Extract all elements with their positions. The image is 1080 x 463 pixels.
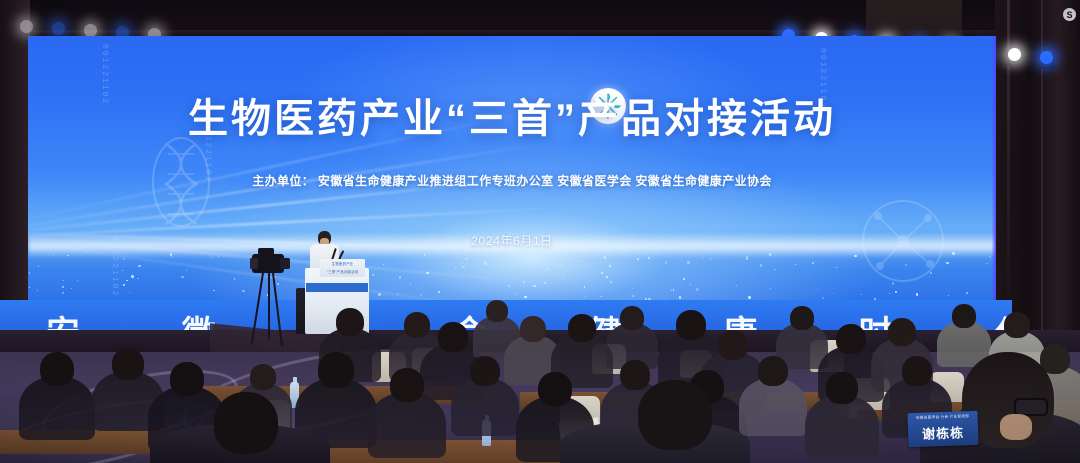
audience-member-head <box>336 308 364 336</box>
screen-particle <box>710 258 712 260</box>
audience-member-head <box>112 348 144 380</box>
audience-member-head <box>250 364 276 390</box>
screen-particle <box>626 251 627 252</box>
screen-particle <box>410 284 412 286</box>
audience-member-head <box>438 322 468 352</box>
stage-light <box>1008 48 1021 61</box>
screen-particle <box>123 284 124 285</box>
screen-particle <box>812 262 814 264</box>
podium-title-plate: 生物医药产业 “三首”产品对接活动 <box>320 259 365 277</box>
podium-title-line2: “三首”产品对接活动 <box>320 267 365 275</box>
foreground-person-head <box>638 380 712 450</box>
screen-particle <box>769 253 772 256</box>
screen-particle <box>63 280 64 281</box>
stage-light <box>52 22 65 35</box>
screen-particle <box>833 293 835 295</box>
audience-member-head <box>538 372 572 406</box>
screen-particle <box>123 258 125 260</box>
led-screen-main: 001221102 001221102 001221102 001221102 <box>28 36 996 336</box>
placard-name: 谢栋栋 <box>908 422 979 443</box>
screen-particle <box>515 293 517 295</box>
screen-particle <box>484 262 487 265</box>
screen-particle <box>508 285 510 287</box>
screen-particle <box>426 272 428 274</box>
screen-particle <box>547 268 548 269</box>
screen-particle <box>774 269 776 271</box>
audience-member-head <box>486 300 508 322</box>
screen-particle <box>576 260 578 262</box>
conference-hall-photo: 001221102 001221102 001221102 001221102 <box>0 0 1080 463</box>
audience-member-body <box>805 395 879 457</box>
screen-particle <box>748 296 751 299</box>
screen-particle <box>389 251 390 252</box>
audience-member-head <box>620 360 650 390</box>
screen-particle <box>606 276 608 278</box>
audience-member-head <box>390 368 424 402</box>
screen-particle <box>277 283 279 285</box>
screen-particle <box>564 276 565 277</box>
screen-particle <box>455 267 456 268</box>
screen-particle <box>584 296 585 297</box>
camera-lens <box>280 258 290 269</box>
screen-particle <box>53 255 54 256</box>
screen-particle <box>420 294 422 296</box>
screen-particle <box>67 255 69 257</box>
screen-particle <box>77 280 78 281</box>
screen-particle <box>234 278 236 280</box>
screen-particle <box>703 257 704 258</box>
screen-particle <box>671 290 672 291</box>
screen-particle <box>417 272 418 273</box>
screen-particle <box>952 252 954 254</box>
tripod-leg <box>268 273 270 339</box>
audience-member-head <box>952 304 976 328</box>
event-title: 生物医药产业“三首”产品对接活动 <box>28 96 996 143</box>
audience-member-head <box>718 330 748 360</box>
screen-particle <box>669 282 671 284</box>
screen-particle <box>665 261 668 264</box>
screen-particle <box>709 272 710 273</box>
screen-particle <box>533 285 535 287</box>
screen-particle <box>696 289 698 291</box>
screen-particle <box>186 270 187 271</box>
led-screen-edge-glow <box>992 36 996 336</box>
screen-particle <box>462 262 464 264</box>
screen-particle <box>524 296 526 298</box>
audience-member-head <box>568 314 596 342</box>
screen-particle <box>397 293 398 294</box>
camera-viewfinder <box>250 258 258 269</box>
screen-particle <box>126 280 127 281</box>
screen-particle <box>986 263 987 264</box>
audience-member-head <box>836 324 866 354</box>
screen-particle <box>770 288 772 290</box>
screen-particle <box>584 286 585 287</box>
name-placard: 安徽省医学会 分会 产业促进部 谢栋栋 <box>907 411 978 447</box>
screen-particle <box>129 292 130 293</box>
screen-particle <box>212 257 213 258</box>
screen-particle <box>690 284 691 285</box>
screen-particle <box>29 287 30 288</box>
podium-accent-band <box>306 283 368 292</box>
stage-light <box>20 20 33 33</box>
audience-member-body <box>368 392 446 458</box>
screen-particle <box>673 289 674 290</box>
screen-particle <box>37 290 38 291</box>
screen-particle <box>71 288 72 289</box>
corner-watermark: S <box>1063 8 1076 21</box>
audience-member-head <box>404 312 430 338</box>
screen-particle <box>29 272 31 274</box>
screen-particle <box>854 255 857 258</box>
audience-member-head <box>888 318 916 346</box>
screen-particle <box>601 272 603 274</box>
screen-particle <box>736 285 737 286</box>
screen-particle <box>637 258 639 260</box>
screen-particle <box>128 260 129 261</box>
screen-particle <box>378 293 380 295</box>
screen-particle <box>122 270 123 271</box>
screen-particle <box>218 256 219 257</box>
screen-particle <box>817 289 818 290</box>
screen-particle <box>600 296 602 298</box>
stage-light <box>1040 51 1053 64</box>
screen-particle <box>632 295 634 297</box>
screen-particle <box>87 251 88 252</box>
hall-wall-left <box>0 0 30 340</box>
foreground-person-head <box>214 392 278 454</box>
screen-particle <box>203 272 204 273</box>
audience-member-head <box>470 356 500 386</box>
screen-particle <box>559 264 561 266</box>
screen-particle <box>693 252 694 253</box>
screen-particle <box>213 290 214 291</box>
screen-particle <box>822 297 824 299</box>
event-organizers: 主办单位： 安徽省生命健康产业推进组工作专班办公室 安徽省医学会 安徽省生命健康… <box>28 172 996 189</box>
screen-particle <box>795 264 797 266</box>
audience-member-head <box>902 356 932 386</box>
screen-particle <box>760 264 763 267</box>
screen-particle <box>138 265 140 267</box>
screen-particle <box>462 266 464 268</box>
screen-particle <box>544 282 546 284</box>
audience-member-head <box>790 306 814 330</box>
screen-particle <box>989 256 991 258</box>
screen-particle <box>836 267 837 268</box>
screen-particle <box>687 261 689 263</box>
screen-particle <box>610 290 611 291</box>
audience-member-head <box>676 310 706 340</box>
audience-member-head <box>170 362 204 396</box>
screen-particle <box>172 256 173 257</box>
screen-particle <box>966 292 968 294</box>
audience-member-head <box>758 356 788 386</box>
audience-member-body <box>19 376 95 440</box>
screen-particle <box>648 257 650 259</box>
placard-organization: 安徽省医学会 分会 产业促进部 <box>908 414 978 421</box>
screen-particle <box>372 274 374 276</box>
audience-member-body <box>451 378 519 436</box>
audience-member-head <box>40 352 74 386</box>
screen-particle <box>679 296 682 299</box>
screen-particle <box>610 281 612 283</box>
screen-particle <box>137 278 138 279</box>
audience-member-head <box>1004 312 1030 338</box>
audience-member-head <box>318 352 354 388</box>
screen-particle <box>62 286 64 288</box>
screen-particle <box>746 258 747 259</box>
screen-particle <box>242 290 244 292</box>
screen-particle <box>383 264 384 265</box>
screen-particle <box>62 292 64 294</box>
screen-particle <box>523 281 525 283</box>
podium-title-line1: 生物医药产业 <box>320 259 365 267</box>
audience-member-body <box>739 378 807 436</box>
screen-particle <box>609 265 611 267</box>
foreground-person-ear <box>1000 414 1032 440</box>
event-date: 2024年6月1日 <box>28 232 996 249</box>
screen-particle <box>465 258 467 260</box>
screen-particle <box>424 254 425 255</box>
screen-particle <box>411 252 412 253</box>
screen-particle <box>604 256 607 259</box>
screen-particle <box>131 275 134 278</box>
screen-particle <box>38 265 39 266</box>
audience-member-head <box>620 306 644 330</box>
screen-particle <box>181 276 183 278</box>
screen-particle <box>632 288 633 289</box>
audience-member-head <box>826 372 858 404</box>
screen-particle <box>438 291 440 293</box>
screen-particle <box>683 278 685 280</box>
screen-particle <box>399 276 401 278</box>
audience-member-head <box>520 316 546 342</box>
